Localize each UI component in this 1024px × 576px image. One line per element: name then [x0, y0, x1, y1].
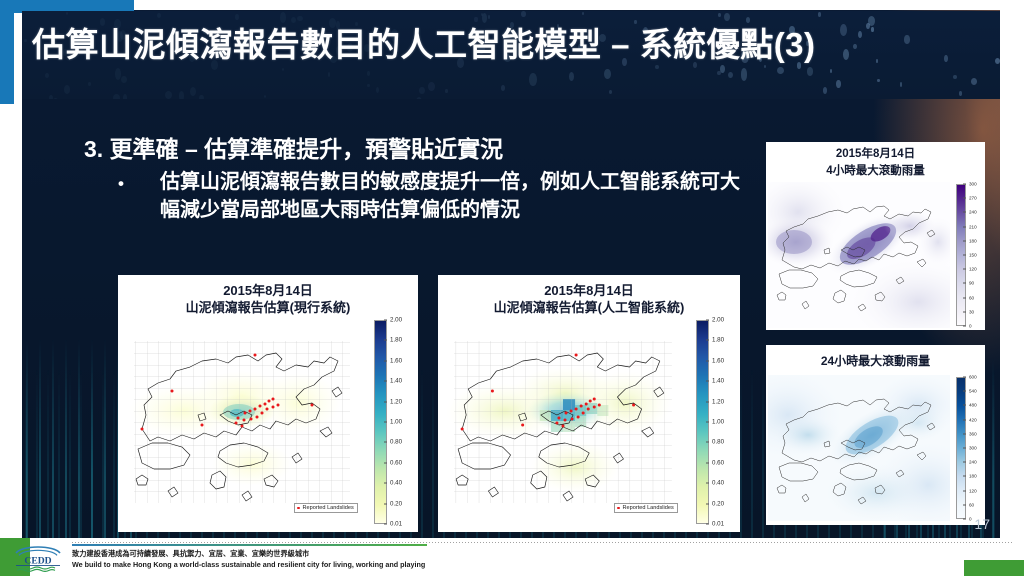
- bokeh-dot: [121, 76, 127, 83]
- bokeh-dot: [179, 91, 185, 99]
- colorbar-tick-label: 150: [969, 253, 977, 258]
- footer: CEDD 致力建設香港成為可持續發展、具抗禦力、宜居、宜業、宜樂的世界級城市 W…: [0, 538, 1024, 576]
- bokeh-dot: [741, 68, 748, 81]
- colorbar-tick-mark: [706, 524, 709, 525]
- colorbar-tick-mark: [963, 269, 966, 270]
- colorbar-tick-mark: [384, 442, 387, 443]
- footer-slogan-cn: 致力建設香港成為可持續發展、具抗禦力、宜居、宜業、宜樂的世界級城市: [72, 549, 309, 559]
- colorbar-tick-label: 0.80: [390, 439, 402, 446]
- bokeh-dot: [45, 73, 49, 78]
- bokeh-dot: [367, 84, 369, 88]
- colorbar-tick-label: 360: [969, 431, 977, 436]
- colorbar-tick-label: 0.20: [712, 500, 724, 507]
- bokeh-dot: [818, 12, 821, 16]
- bokeh-dot: [282, 68, 284, 71]
- figure-rain-24h: 24小時最大滾動雨量: [766, 345, 985, 525]
- bokeh-dot: [64, 85, 70, 93]
- page-title: 估算山泥傾瀉報告數目的人工智能模型 – 系統優點(3): [32, 18, 992, 66]
- bokeh-dot: [609, 90, 612, 94]
- colorbar-tick-label: 120: [969, 267, 977, 272]
- colorbar-tick-mark: [384, 503, 387, 504]
- colorbar-tick-mark: [963, 519, 966, 520]
- colorbar-tick-mark: [963, 405, 966, 406]
- colorbar-tick-label: 1.20: [390, 398, 402, 405]
- colorbar-tick-mark: [706, 483, 709, 484]
- colorbar-tick-label: 0.20: [390, 500, 402, 507]
- bokeh-dot: [720, 65, 725, 73]
- colorbar-tick-mark: [963, 184, 966, 185]
- colorbar-tick-label: 0.60: [390, 459, 402, 466]
- bokeh-dot: [807, 67, 814, 76]
- colorbar-tick-mark: [963, 198, 966, 199]
- bokeh-dot: [995, 58, 1000, 64]
- figure-rain-4h: 2015年8月14日 4小時最大滾動雨量: [766, 142, 985, 330]
- numbered-point: 3. 更準確 – 估算準確提升，預警貼近實況: [84, 130, 503, 164]
- bokeh-dot: [165, 91, 172, 99]
- colorbar-tick-label: 2.00: [390, 317, 402, 324]
- colorbar-tick-label: 60: [969, 295, 974, 300]
- bokeh-dot: [521, 11, 526, 16]
- colorbar-tick-label: 300: [969, 182, 977, 187]
- bokeh-dot: [604, 69, 610, 79]
- colorbar-tick-mark: [963, 490, 966, 491]
- footer-dotted-rule: [72, 542, 1012, 543]
- colorbar-tick-mark: [706, 320, 709, 321]
- bokeh-dot: [728, 72, 733, 78]
- colorbar-tick-label: 90: [969, 281, 974, 286]
- bokeh-dot: [115, 68, 121, 79]
- colorbar-tick-label: 2.00: [712, 317, 724, 324]
- colorbar-tick-mark: [384, 340, 387, 341]
- map-legend-ai: Reported Landslides: [614, 503, 678, 513]
- bokeh-dot: [264, 95, 267, 99]
- page-number: 17: [974, 516, 990, 532]
- colorbar-tick-mark: [963, 283, 966, 284]
- map-rain-4h: [768, 182, 950, 328]
- colorbar-tick-mark: [384, 360, 387, 361]
- figure-title-line1: 2015年8月14日: [118, 283, 418, 299]
- bokeh-dot: [569, 72, 574, 81]
- legend-marker-icon: [617, 507, 620, 510]
- colorbar-tick-label: 1.20: [712, 398, 724, 405]
- colorbar-tick-mark: [706, 381, 709, 382]
- legend-marker-icon: [297, 507, 300, 510]
- colorbar-tick-mark: [706, 462, 709, 463]
- colorbar-tick-label: 210: [969, 224, 977, 229]
- figure-title-line1: 2015年8月14日: [438, 283, 740, 299]
- colorbar-tick-mark: [963, 448, 966, 449]
- bokeh-dot: [66, 12, 68, 15]
- colorbar-current-system: 2.001.801.601.401.201.000.800.600.400.20…: [374, 320, 387, 524]
- bokeh-dot: [88, 82, 91, 86]
- colorbar-tick-label: 240: [969, 210, 977, 215]
- figure-ai-system: 2015年8月14日 山泥傾瀉報告估算(人工智能系統): [438, 275, 740, 532]
- colorbar-tick-mark: [963, 311, 966, 312]
- bokeh-dot: [113, 94, 120, 99]
- bokeh-dot: [428, 82, 434, 91]
- map-current-system: [124, 319, 362, 525]
- colorbar-tick-mark: [706, 503, 709, 504]
- colorbar-tick-label: 600: [969, 375, 977, 380]
- colorbar-tick-label: 0.01: [712, 521, 724, 528]
- map-ai-system: [444, 319, 684, 525]
- colorbar-tick-label: 1.60: [712, 357, 724, 364]
- colorbar-tick-mark: [706, 442, 709, 443]
- bokeh-dot: [416, 97, 422, 99]
- map-rain-24h: [768, 375, 950, 521]
- colorbar-tick-mark: [963, 476, 966, 477]
- colorbar-tick-label: 60: [969, 502, 974, 507]
- colorbar-tick-label: 540: [969, 389, 977, 394]
- colorbar-tick-mark: [963, 240, 966, 241]
- bokeh-dot: [529, 73, 536, 86]
- bokeh-dot: [830, 69, 832, 73]
- colorbar-tick-mark: [384, 524, 387, 525]
- colorbar-tick-label: 1.80: [712, 337, 724, 344]
- colorbar-tick-label: 0.80: [712, 439, 724, 446]
- colorbar-tick-mark: [706, 340, 709, 341]
- colorbar-tick-label: 1.00: [712, 419, 724, 426]
- figure-title-line2: 山泥傾瀉報告估算(人工智能系統): [438, 300, 740, 316]
- bokeh-dot: [582, 12, 584, 15]
- colorbar-tick-label: 1.60: [390, 357, 402, 364]
- bokeh-dot: [445, 89, 447, 93]
- legend-label: Reported Landslides: [623, 505, 674, 511]
- bokeh-dot: [367, 71, 370, 76]
- colorbar-tick-mark: [963, 255, 966, 256]
- colorbar-tick-label: 180: [969, 238, 977, 243]
- colorbar-tick-mark: [963, 226, 966, 227]
- colorbar-tick-mark: [963, 419, 966, 420]
- colorbar-tick-label: 1.00: [390, 419, 402, 426]
- colorbar-tick-label: 1.40: [712, 378, 724, 385]
- colorbar-tick-label: 0.60: [712, 459, 724, 466]
- bullet-marker: •: [118, 174, 124, 194]
- colorbar-tick-mark: [963, 377, 966, 378]
- legend-label: Reported Landslides: [303, 505, 354, 511]
- colorbar-tick-mark: [384, 422, 387, 423]
- map-legend-current: Reported Landslides: [294, 503, 358, 513]
- colorbar-tick-label: 0: [969, 517, 972, 522]
- colorbar-tick-mark: [706, 360, 709, 361]
- colorbar-tick-label: 0.01: [390, 521, 402, 528]
- figure-title-line2: 4小時最大滾動雨量: [766, 164, 985, 178]
- bokeh-dot: [376, 87, 379, 93]
- bokeh-dot: [959, 91, 962, 96]
- colorbar-tick-mark: [963, 326, 966, 327]
- colorbar-tick-label: 1.80: [390, 337, 402, 344]
- bullet-text: 估算山泥傾瀉報告數目的敏感度提升一倍，例如人工智能系統可大幅減少當局部地區大雨時…: [160, 168, 740, 225]
- colorbar-tick-mark: [706, 422, 709, 423]
- colorbar-rain-24h: 600540480420360300240180120600: [956, 377, 966, 519]
- bokeh-dot: [199, 95, 203, 99]
- figure-title-line2: 山泥傾瀉報告估算(現行系統): [118, 300, 418, 316]
- colorbar-tick-mark: [384, 483, 387, 484]
- bokeh-dot: [777, 67, 784, 74]
- bokeh-dot: [419, 87, 425, 95]
- bokeh-dot: [877, 79, 880, 83]
- colorbar-tick-mark: [963, 212, 966, 213]
- bokeh-dot: [900, 82, 902, 86]
- bokeh-dot: [123, 94, 127, 99]
- colorbar-tick-label: 300: [969, 446, 977, 451]
- accent-bar-left: [0, 12, 14, 104]
- figure-current-system: 2015年8月14日 山泥傾瀉報告估算(現行系統): [118, 275, 418, 532]
- colorbar-ai-system: 2.001.801.601.401.201.000.800.600.400.20…: [696, 320, 709, 524]
- cedd-logo: CEDD: [12, 542, 64, 572]
- colorbar-tick-mark: [384, 401, 387, 402]
- colorbar-tick-mark: [963, 504, 966, 505]
- colorbar-tick-mark: [706, 401, 709, 402]
- colorbar-tick-label: 480: [969, 403, 977, 408]
- colorbar-tick-mark: [963, 433, 966, 434]
- footer-green-right: [964, 560, 1024, 576]
- colorbar-tick-mark: [384, 320, 387, 321]
- bokeh-dot: [971, 78, 977, 85]
- colorbar-tick-label: 30: [969, 309, 974, 314]
- footer-slogan-en: We build to make Hong Kong a world-class…: [72, 560, 425, 569]
- colorbar-tick-label: 1.40: [390, 378, 402, 385]
- footer-gradient-rule: [72, 544, 427, 546]
- bokeh-dot: [52, 98, 59, 99]
- colorbar-tick-label: 120: [969, 488, 977, 493]
- figure-title-line1: 24小時最大滾動雨量: [766, 354, 985, 369]
- colorbar-tick-label: 270: [969, 196, 977, 201]
- colorbar-tick-label: 420: [969, 417, 977, 422]
- colorbar-rain-4h: 3002702402101801501209060300: [956, 184, 966, 326]
- bokeh-dot: [836, 80, 840, 87]
- colorbar-tick-mark: [963, 462, 966, 463]
- bokeh-dot: [190, 87, 196, 96]
- bokeh-dot: [718, 13, 721, 17]
- figure-title-line1: 2015年8月14日: [766, 147, 985, 161]
- colorbar-tick-mark: [384, 381, 387, 382]
- colorbar-tick-mark: [384, 462, 387, 463]
- svg-text:CEDD: CEDD: [24, 555, 51, 566]
- colorbar-tick-label: 0.40: [712, 480, 724, 487]
- colorbar-tick-label: 240: [969, 460, 977, 465]
- bokeh-dot: [328, 72, 331, 77]
- bokeh-dot: [501, 85, 505, 91]
- bokeh-dot: [823, 87, 828, 94]
- bokeh-dot: [49, 95, 53, 99]
- bokeh-dot: [24, 39, 26, 43]
- slide: 估算山泥傾瀉報告數目的人工智能模型 – 系統優點(3) 3. 更準確 – 估算準…: [0, 0, 1024, 576]
- colorbar-tick-mark: [963, 391, 966, 392]
- colorbar-tick-label: 180: [969, 474, 977, 479]
- colorbar-tick-label: 0: [969, 324, 972, 329]
- bokeh-dot: [953, 75, 957, 79]
- colorbar-tick-mark: [963, 297, 966, 298]
- colorbar-tick-label: 0.40: [390, 480, 402, 487]
